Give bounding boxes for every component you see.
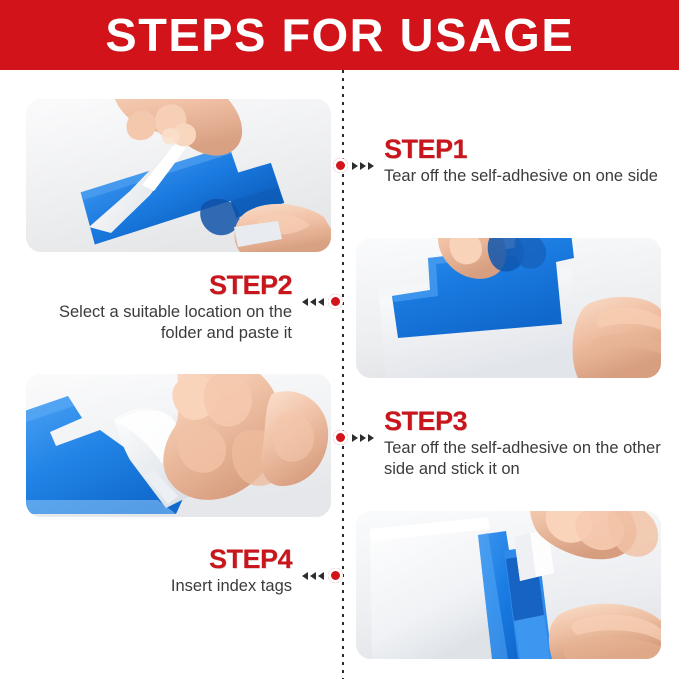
illustration-step3: [26, 374, 331, 517]
arrow-left-icon: [318, 298, 324, 306]
step-text-step4: STEP4 Insert index tags: [171, 546, 292, 597]
illustration-step4: [356, 511, 661, 659]
illustration-step1: [26, 99, 331, 252]
step-text-step3: STEP3 Tear off the self-adhesive on the …: [384, 408, 669, 481]
step-block-step2: STEP2 Select a suitable location on the …: [40, 272, 343, 345]
photo-peel-second-adhesive-backing: [26, 374, 331, 517]
arrow-left-icon: [302, 572, 308, 580]
step-text-step1: STEP1 Tear off the self-adhesive on one …: [384, 136, 658, 187]
step-block-step4: STEP4 Insert index tags: [40, 546, 343, 597]
arrow-left-icon-group: [302, 572, 324, 580]
step-heading-step1: STEP1: [384, 136, 658, 164]
step-marker-step1: [333, 158, 378, 173]
arrow-right-icon: [352, 434, 358, 442]
arrow-right-icon: [360, 162, 366, 170]
step-heading-step3: STEP3: [384, 408, 669, 436]
target-dot-icon: [328, 294, 343, 309]
illustration-step2: [356, 238, 661, 378]
step-description-step3: Tear off the self-adhesive on the other …: [384, 438, 669, 482]
page-title: STEPS FOR USAGE: [105, 12, 574, 58]
target-dot-icon: [328, 568, 343, 583]
arrow-right-icon: [352, 162, 358, 170]
arrow-left-icon: [310, 298, 316, 306]
arrow-left-icon-group: [302, 298, 324, 306]
photo-insert-index-tag: [356, 511, 661, 659]
photo-press-tag-onto-folder: [356, 238, 661, 378]
step-description-step2: Select a suitable location on the folder…: [40, 302, 292, 346]
arrow-right-icon: [368, 162, 374, 170]
header-banner: STEPS FOR USAGE: [0, 0, 679, 70]
target-dot-icon: [333, 430, 348, 445]
arrow-right-icon-group: [352, 434, 374, 442]
arrow-left-icon: [302, 298, 308, 306]
arrow-right-icon: [368, 434, 374, 442]
arrow-right-icon: [360, 434, 366, 442]
arrow-left-icon: [310, 572, 316, 580]
step-block-step3: STEP3 Tear off the self-adhesive on the …: [333, 408, 669, 481]
step-marker-step2: [298, 294, 343, 309]
step-block-step1: STEP1 Tear off the self-adhesive on one …: [333, 136, 658, 187]
step-description-step1: Tear off the self-adhesive on one side: [384, 166, 658, 188]
arrow-left-icon: [318, 572, 324, 580]
target-dot-icon: [333, 158, 348, 173]
step-text-step2: STEP2 Select a suitable location on the …: [40, 272, 292, 345]
arrow-right-icon-group: [352, 162, 374, 170]
photo-peel-first-adhesive-backing: [26, 99, 331, 252]
step-heading-step4: STEP4: [171, 546, 292, 574]
step-heading-step2: STEP2: [40, 272, 292, 300]
step-description-step4: Insert index tags: [171, 576, 292, 598]
step-marker-step4: [298, 568, 343, 583]
step-marker-step3: [333, 430, 378, 445]
